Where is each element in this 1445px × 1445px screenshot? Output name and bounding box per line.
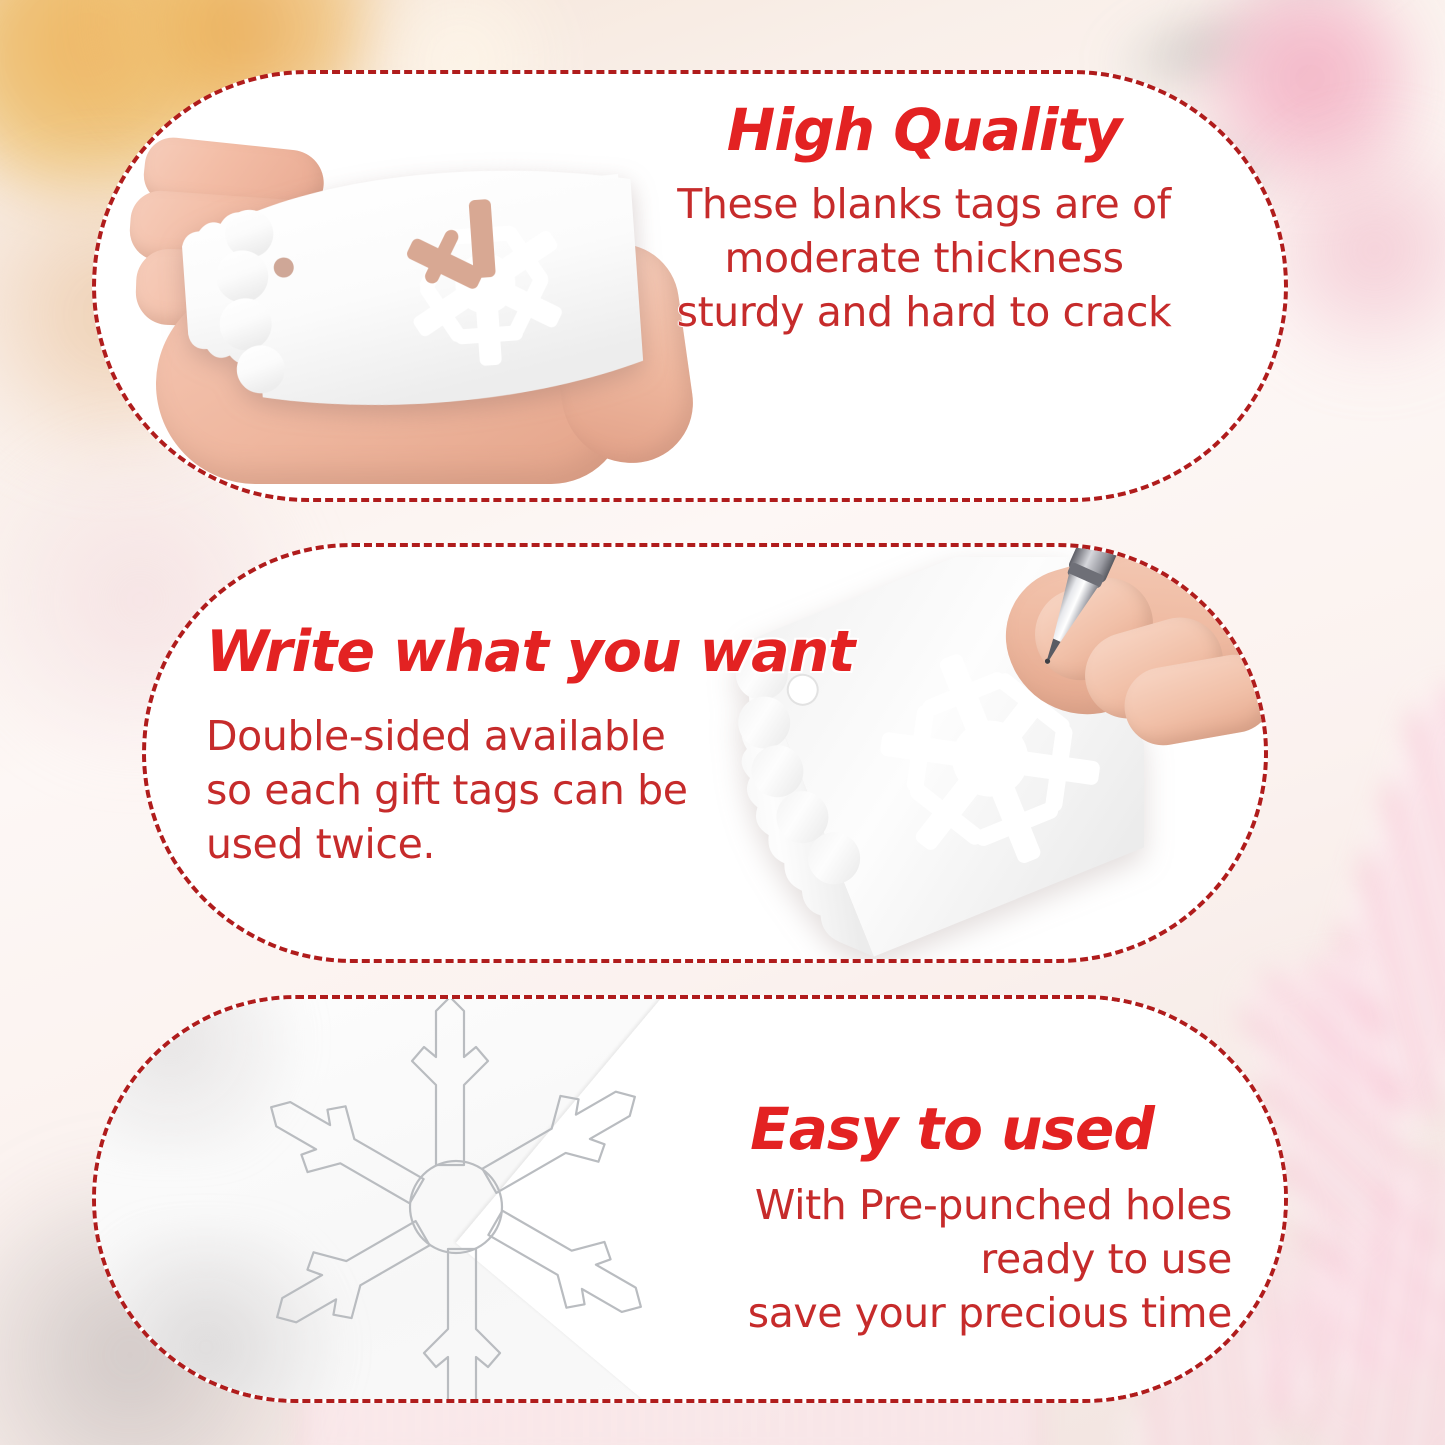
feature-panel-easy-to-used: Easy to used With Pre-punched holes read… xyxy=(92,995,1288,1403)
body-line: moderate thickness xyxy=(624,231,1224,285)
panel-2-text: Write what you want Double-sided availab… xyxy=(206,623,826,871)
body-line: used twice. xyxy=(206,817,826,871)
feature-panel-high-quality: High Quality These blanks tags are of mo… xyxy=(92,70,1288,502)
body-line: Double-sided available xyxy=(206,709,826,763)
panel-2-heading: Write what you want xyxy=(206,623,826,683)
panel-3-heading: Easy to used xyxy=(672,1099,1232,1160)
panel-2-body: Double-sided available so each gift tags… xyxy=(206,709,826,871)
panel-1-text: High Quality These blanks tags are of mo… xyxy=(624,100,1224,339)
panel-3-text: Easy to used With Pre-punched holes read… xyxy=(672,1099,1232,1340)
hand-illustration xyxy=(126,134,686,484)
body-line: With Pre-punched holes xyxy=(672,1178,1232,1232)
silver-pen-icon xyxy=(1006,543,1136,681)
panel-3-body: With Pre-punched holes ready to use save… xyxy=(672,1178,1232,1340)
panel-1-heading: High Quality xyxy=(624,100,1224,161)
body-line: save your precious time xyxy=(672,1286,1232,1340)
feature-panel-write-what-you-want: Write what you want Double-sided availab… xyxy=(142,543,1268,963)
hand-illustration xyxy=(974,543,1268,771)
body-line: ready to use xyxy=(672,1232,1232,1286)
panel-1-body: These blanks tags are of moderate thickn… xyxy=(624,177,1224,339)
gift-tag-with-snowflake-cutout xyxy=(177,144,665,446)
body-line: sturdy and hard to crack xyxy=(624,285,1224,339)
body-line: These blanks tags are of xyxy=(624,177,1224,231)
body-line: so each gift tags can be xyxy=(206,763,826,817)
